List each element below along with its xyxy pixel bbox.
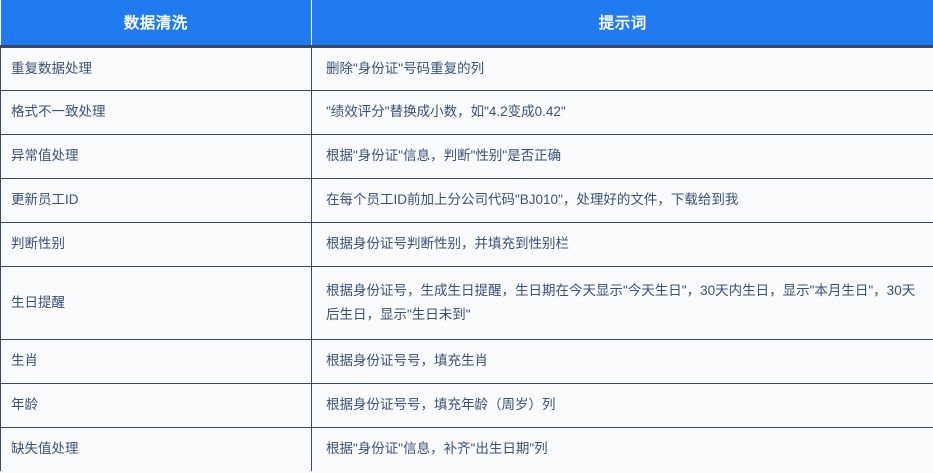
data-cleaning-prompt-table: 数据清洗 提示词 重复数据处理删除"身份证"号码重复的列格式不一致处理"绩效评分… (0, 0, 933, 471)
cell-task-text: 重复数据处理 (11, 57, 297, 81)
cell-task: 判断性别 (1, 222, 312, 266)
cell-prompt-text: 根据"身份证"信息，补齐"出生日期"列 (326, 437, 919, 461)
table-row: 判断性别根据身份证号判断性别，并填充到性别栏 (1, 222, 933, 266)
cell-task: 生日提醒 (1, 266, 312, 339)
table-row: 年龄根据身份证号号，填充年龄（周岁）列 (1, 383, 933, 427)
table-body: 重复数据处理删除"身份证"号码重复的列格式不一致处理"绩效评分"替换成小数，如"… (1, 46, 933, 471)
cell-prompt-text: 根据"身份证"信息，判断"性别"是否正确 (326, 144, 919, 168)
cell-prompt: 在每个员工ID前加上分公司代码"BJ010"，处理好的文件，下载给到我 (312, 178, 933, 222)
cell-task-text: 生肖 (11, 349, 297, 373)
column-header-task: 数据清洗 (1, 0, 312, 46)
cell-task-text: 格式不一致处理 (11, 100, 297, 124)
cell-prompt: 根据身份证号判断性别，并填充到性别栏 (312, 222, 933, 266)
column-header-prompt: 提示词 (312, 0, 933, 46)
cell-prompt: 根据身份证号，生成生日提醒，生日期在今天显示"今天生日"，30天内生日，显示"本… (312, 266, 933, 339)
cell-prompt-text: 根据身份证号号，填充生肖 (326, 349, 919, 373)
cell-prompt-text: 根据身份证号号，填充年龄（周岁）列 (326, 393, 919, 417)
cell-prompt: 根据身份证号号，填充年龄（周岁）列 (312, 383, 933, 427)
cell-prompt-text: 在每个员工ID前加上分公司代码"BJ010"，处理好的文件，下载给到我 (326, 188, 919, 212)
cell-task-text: 判断性别 (11, 232, 297, 256)
cell-prompt: "绩效评分"替换成小数，如"4.2变成0.42" (312, 90, 933, 134)
cell-prompt: 根据"身份证"信息，补齐"出生日期"列 (312, 427, 933, 471)
table-row: 缺失值处理根据"身份证"信息，补齐"出生日期"列 (1, 427, 933, 471)
table-row: 生日提醒根据身份证号，生成生日提醒，生日期在今天显示"今天生日"，30天内生日，… (1, 266, 933, 339)
cell-prompt-text: 删除"身份证"号码重复的列 (326, 57, 919, 81)
cell-task: 更新员工ID (1, 178, 312, 222)
table-header: 数据清洗 提示词 (1, 0, 933, 46)
cell-task: 异常值处理 (1, 134, 312, 178)
cell-prompt-text: 根据身份证号判断性别，并填充到性别栏 (326, 232, 919, 256)
cell-task-text: 缺失值处理 (11, 437, 297, 461)
cell-task-text: 异常值处理 (11, 144, 297, 168)
table-row: 重复数据处理删除"身份证"号码重复的列 (1, 46, 933, 90)
table-row: 生肖根据身份证号号，填充生肖 (1, 339, 933, 383)
table-row: 异常值处理根据"身份证"信息，判断"性别"是否正确 (1, 134, 933, 178)
cell-task-text: 更新员工ID (11, 188, 297, 212)
table-header-row: 数据清洗 提示词 (1, 0, 933, 46)
cell-prompt-text: "绩效评分"替换成小数，如"4.2变成0.42" (326, 100, 919, 124)
cell-task: 缺失值处理 (1, 427, 312, 471)
data-cleaning-prompt-table-container: 数据清洗 提示词 重复数据处理删除"身份证"号码重复的列格式不一致处理"绩效评分… (0, 0, 933, 473)
cell-task: 重复数据处理 (1, 46, 312, 90)
cell-task: 生肖 (1, 339, 312, 383)
cell-task: 年龄 (1, 383, 312, 427)
table-row: 更新员工ID在每个员工ID前加上分公司代码"BJ010"，处理好的文件，下载给到… (1, 178, 933, 222)
cell-prompt: 根据身份证号号，填充生肖 (312, 339, 933, 383)
cell-task: 格式不一致处理 (1, 90, 312, 134)
cell-task-text: 生日提醒 (11, 291, 297, 315)
cell-task-text: 年龄 (11, 393, 297, 417)
table-row: 格式不一致处理"绩效评分"替换成小数，如"4.2变成0.42" (1, 90, 933, 134)
cell-prompt: 删除"身份证"号码重复的列 (312, 46, 933, 90)
cell-prompt: 根据"身份证"信息，判断"性别"是否正确 (312, 134, 933, 178)
cell-prompt-text: 根据身份证号，生成生日提醒，生日期在今天显示"今天生日"，30天内生日，显示"本… (326, 279, 919, 326)
